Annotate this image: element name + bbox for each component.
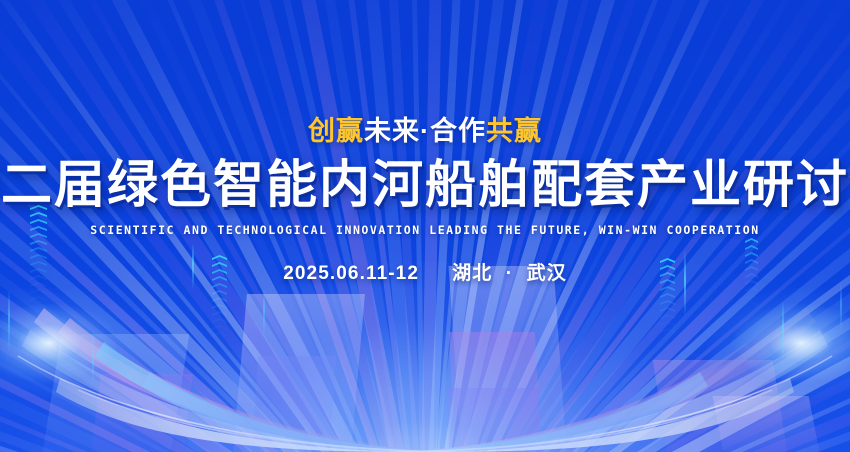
eyebrow-segment-2: 未来·合作 <box>364 116 486 146</box>
meta-space <box>432 263 438 284</box>
eyebrow-slogan: 创赢未来·合作共赢 <box>308 118 542 145</box>
eyebrow-segment-3: 共赢 <box>486 116 542 146</box>
event-meta: 2025.06.11-12 湖北 · 武汉 <box>283 258 567 285</box>
meta-separator: · <box>506 263 513 284</box>
conference-banner: 创赢未来·合作共赢 第二届绿色智能内河船舶配套产业研讨会 SCIENTIFIC … <box>0 0 850 452</box>
eyebrow-segment-1: 创赢 <box>308 116 364 146</box>
banner-content: 创赢未来·合作共赢 第二届绿色智能内河船舶配套产业研讨会 SCIENTIFIC … <box>0 0 850 452</box>
event-province: 湖北 <box>452 263 492 284</box>
page-title: 第二届绿色智能内河船舶配套产业研讨会 <box>0 157 850 212</box>
event-date: 2025.06.11-12 <box>283 263 419 284</box>
subtitle-english: SCIENTIFIC AND TECHNOLOGICAL INNOVATION … <box>90 223 759 237</box>
event-city: 武汉 <box>527 263 567 284</box>
